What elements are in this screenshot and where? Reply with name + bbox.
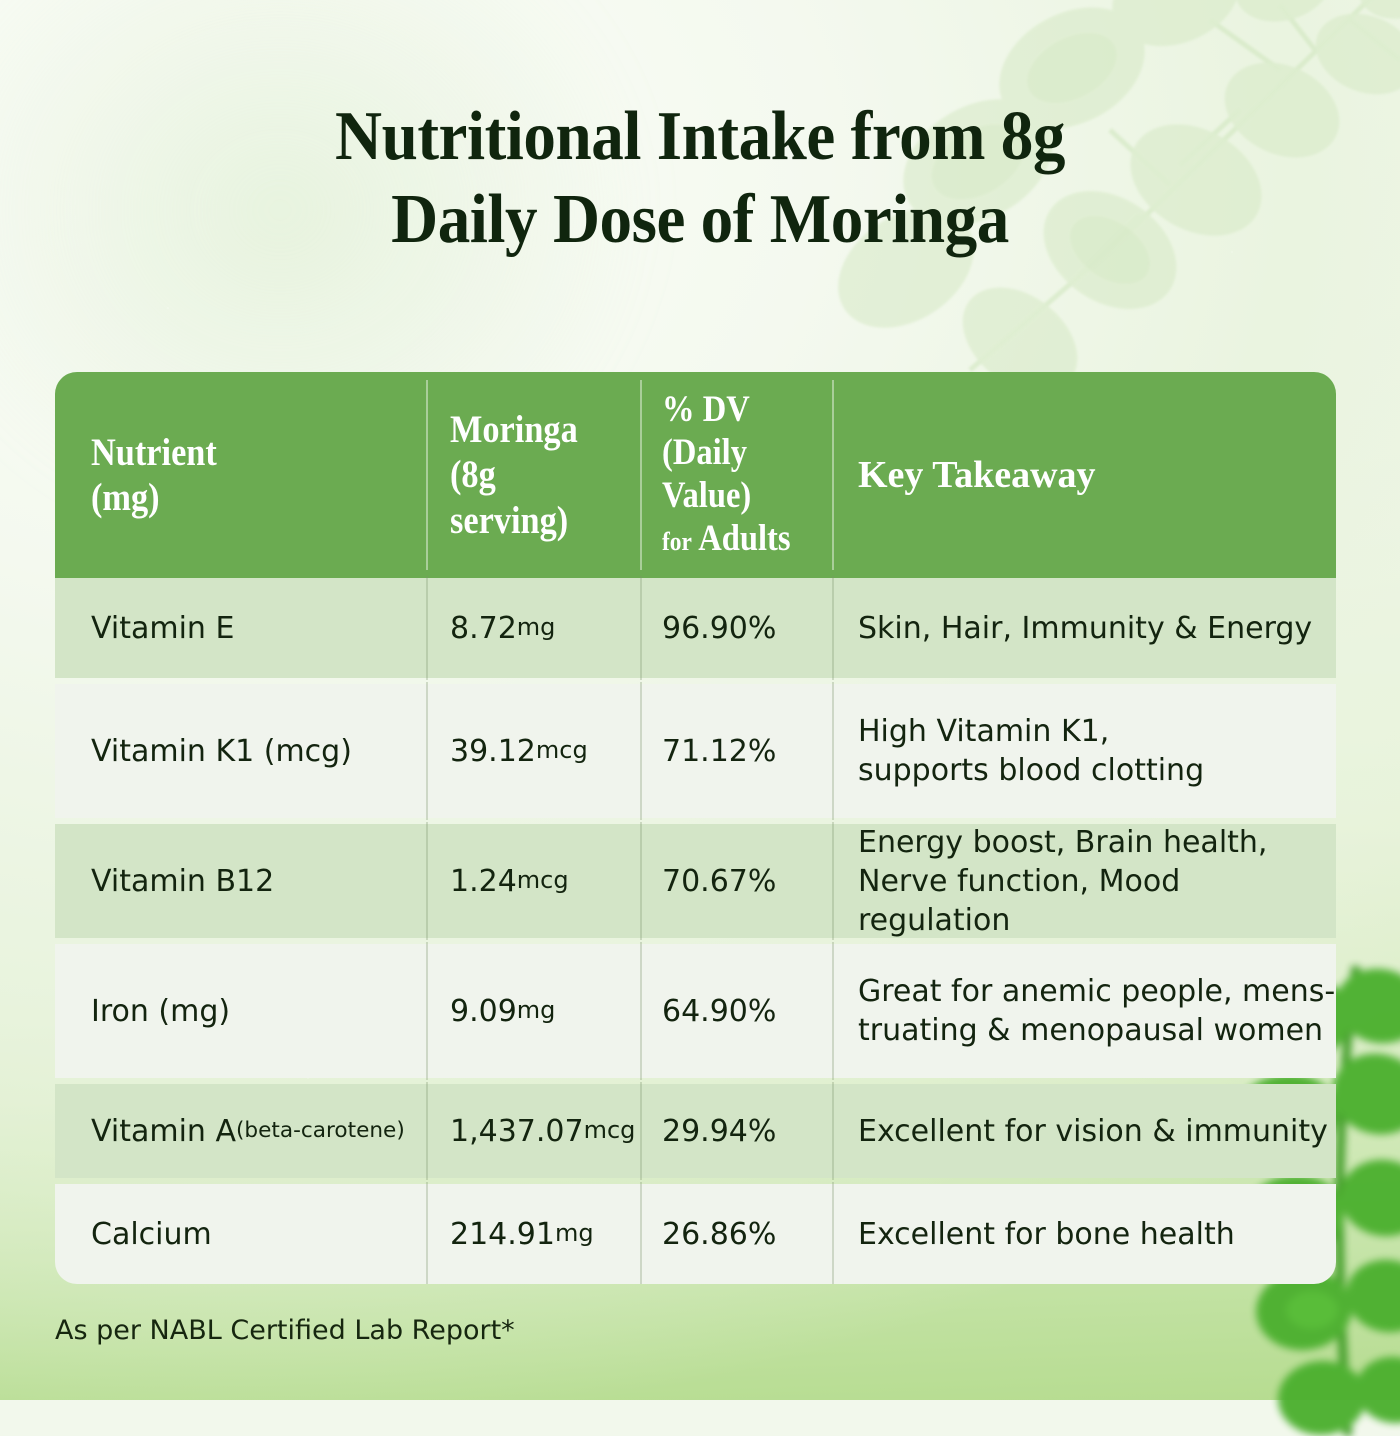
table-row: Iron (mg) 9.09mg 64.90% Great for anemic… [55, 944, 1336, 1078]
cell-takeaway-line-1: High Vitamin K1, [858, 712, 1204, 751]
column-header-moringa-serving: Moringa (8g serving) [426, 372, 640, 578]
cell-amount: 9.09mg [426, 944, 640, 1078]
cell-takeaway-text: Great for anemic people, mens-truating &… [858, 972, 1335, 1050]
cell-nutrient: Vitamin E [55, 578, 426, 678]
column-header-dv-line-2: (Daily [662, 432, 812, 475]
column-header-moringa-line-1: Moringa [450, 407, 617, 452]
footnote: As per NABL Certified Lab Report* [55, 1315, 515, 1346]
column-header-dv-line-1: % DV [662, 389, 812, 432]
cell-takeaway: Excellent for bone health [832, 1184, 1336, 1284]
cell-amount-unit: mcg [536, 735, 588, 766]
cell-takeaway: Great for anemic people, mens-truating &… [832, 944, 1336, 1078]
cell-daily-value: 64.90% [640, 944, 832, 1078]
cell-takeaway-line-1: Excellent for bone health [858, 1215, 1235, 1254]
cell-nutrient-main: Vitamin A [91, 1112, 236, 1151]
cell-takeaway-text: Energy boost, Brain health,Nerve functio… [858, 823, 1336, 940]
column-header-nutrient-line-1: Nutrient [91, 430, 386, 475]
cell-daily-value: 26.86% [640, 1184, 832, 1284]
cell-nutrient: Vitamin K1 (mcg) [55, 684, 426, 818]
cell-amount: 214.91mg [426, 1184, 640, 1284]
cell-takeaway-line-1: Excellent for vision & immunity [858, 1112, 1328, 1151]
cell-amount: 8.72mg [426, 578, 640, 678]
column-header-moringa-line-2: (8g [450, 452, 617, 497]
cell-takeaway: Excellent for vision & immunity [832, 1084, 1336, 1178]
page-title: Nutritional Intake from 8g Daily Dose of… [49, 96, 1351, 261]
cell-amount-value: 8.72 [450, 609, 517, 648]
column-header-nutrient: Nutrient (mg) [55, 372, 426, 578]
cell-takeaway-line-1: Skin, Hair, Immunity & Energy [858, 609, 1312, 648]
column-header-dv-line-3: Value) [662, 475, 812, 518]
table-row: Vitamin B12 1.24mcg 70.67% Energy boost,… [55, 824, 1336, 938]
page-title-line-2: Daily Dose of Moringa [49, 179, 1351, 262]
table-row: Vitamin E 8.72mg 96.90% Skin, Hair, Immu… [55, 578, 1336, 678]
cell-nutrient: Vitamin A (beta-carotene) [55, 1084, 426, 1178]
column-header-key-takeaway: Key Takeaway [832, 372, 1336, 578]
cell-nutrient-qualifier: (beta-carotene) [236, 1117, 405, 1145]
page-title-line-1: Nutritional Intake from 8g [49, 96, 1351, 179]
cell-nutrient: Vitamin B12 [55, 824, 426, 938]
cell-amount-unit: mcg [584, 1115, 636, 1146]
column-header-moringa-line-3: serving) [450, 498, 617, 543]
cell-takeaway-line-2: Nerve function, Mood regulation [858, 862, 1336, 940]
cell-amount-value: 1.24 [450, 862, 517, 901]
cell-takeaway: Skin, Hair, Immunity & Energy [832, 578, 1336, 678]
cell-takeaway-line-1: Energy boost, Brain health, [858, 823, 1336, 862]
cell-amount-unit: mcg [517, 865, 569, 896]
cell-nutrient: Calcium [55, 1184, 426, 1284]
cell-amount-value: 214.91 [450, 1215, 555, 1254]
column-header-dv-line-4: for Adults [662, 518, 812, 561]
column-header-takeaway-label: Key Takeaway [858, 453, 1336, 497]
cell-takeaway-line-2: truating & menopausal women [858, 1011, 1335, 1050]
cell-takeaway-line-1: Great for anemic people, mens- [858, 972, 1335, 1011]
column-header-dv-for: for [662, 526, 692, 556]
table-row: Vitamin K1 (mcg) 39.12mcg 71.12% High Vi… [55, 684, 1336, 818]
cell-nutrient: Iron (mg) [55, 944, 426, 1078]
cell-amount: 1,437.07mcg [426, 1084, 640, 1178]
cell-amount-value: 9.09 [450, 992, 517, 1031]
cell-daily-value: 71.12% [640, 684, 832, 818]
cell-amount-unit: mg [517, 995, 556, 1026]
cell-takeaway: High Vitamin K1,supports blood clotting [832, 684, 1336, 818]
table-header-row: Nutrient (mg) Moringa (8g serving) % DV … [55, 372, 1336, 578]
cell-amount-unit: mg [517, 612, 556, 643]
cell-amount-unit: mg [555, 1218, 594, 1249]
cell-amount: 39.12mcg [426, 684, 640, 818]
cell-amount-value: 39.12 [450, 732, 536, 771]
cell-takeaway-line-2: supports blood clotting [858, 751, 1204, 790]
column-header-nutrient-line-2: (mg) [91, 475, 386, 520]
cell-daily-value: 29.94% [640, 1084, 832, 1178]
cell-daily-value: 70.67% [640, 824, 832, 938]
table-row: Calcium 214.91mg 26.86% Excellent for bo… [55, 1184, 1336, 1284]
table-row: Vitamin A (beta-carotene) 1,437.07mcg 29… [55, 1084, 1336, 1178]
cell-amount: 1.24mcg [426, 824, 640, 938]
cell-takeaway: Energy boost, Brain health,Nerve functio… [832, 824, 1336, 938]
nutrition-table: Nutrient (mg) Moringa (8g serving) % DV … [55, 372, 1336, 1284]
column-header-daily-value: % DV (Daily Value) for Adults [640, 372, 832, 578]
column-header-dv-adults: Adults [698, 518, 790, 559]
cell-amount-value: 1,437.07 [450, 1112, 584, 1151]
cell-daily-value: 96.90% [640, 578, 832, 678]
cell-takeaway-text: High Vitamin K1,supports blood clotting [858, 712, 1204, 790]
